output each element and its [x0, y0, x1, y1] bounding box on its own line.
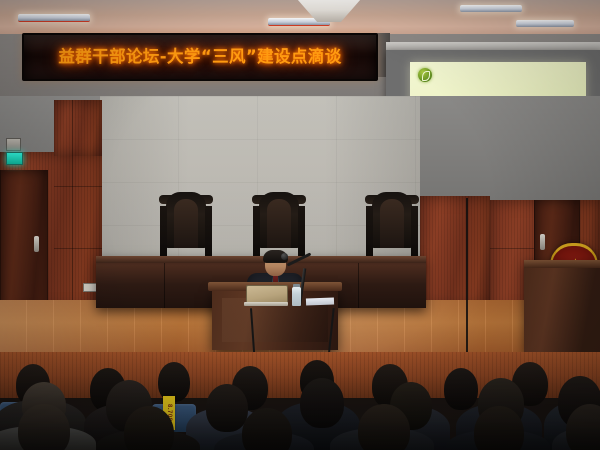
- panel-seam: [490, 248, 534, 249]
- chair-arm: [205, 206, 212, 258]
- glasses-icon: [266, 262, 285, 267]
- audience-head: [444, 368, 478, 410]
- chair-arm: [160, 206, 167, 258]
- right-desk-top: [524, 260, 600, 268]
- ceiling-light-strip: [516, 20, 574, 27]
- audience-head: [206, 384, 248, 432]
- right-gray-wall: [418, 96, 600, 200]
- right-side-desk: [524, 260, 600, 352]
- papers: [306, 298, 334, 306]
- chair-arm: [298, 206, 305, 258]
- table-seam: [358, 263, 359, 308]
- audience-head: [358, 404, 410, 450]
- hanging-cable: [466, 198, 468, 368]
- wall-socket: [83, 283, 97, 292]
- chair-back: [259, 192, 299, 248]
- panel-seam: [54, 186, 102, 187]
- university-green-leaf-logo-icon: [418, 68, 432, 82]
- panel-seam: [54, 248, 102, 249]
- chair-arm: [366, 206, 373, 258]
- ceiling-light-strip: [18, 14, 90, 22]
- microphone-head-icon: [281, 253, 288, 260]
- chair-arm: [411, 206, 418, 258]
- laptop-keyboard: [244, 302, 288, 306]
- door-handle-icon[interactable]: [540, 234, 545, 250]
- door-handle-icon[interactable]: [34, 236, 39, 252]
- ceiling-light-strip: [460, 5, 522, 12]
- audience-area: 8.708: [0, 352, 600, 450]
- chair-back: [372, 192, 412, 248]
- left-wood-panel-upper: [54, 100, 102, 156]
- left-exit-door[interactable]: [0, 170, 48, 312]
- exit-sign: [6, 152, 23, 165]
- led-banner-text: 益群干部论坛-大学“三风”建设点滴谈: [58, 49, 341, 66]
- stage-chair: [363, 192, 421, 264]
- led-banner-board: 益群干部论坛-大学“三风”建设点滴谈: [22, 33, 378, 81]
- wall-control-box[interactable]: [6, 138, 21, 151]
- panel-seam: [72, 100, 73, 310]
- audience-head: [18, 404, 70, 450]
- table-seam: [164, 263, 165, 308]
- audience-head: [300, 378, 344, 428]
- laptop: [244, 285, 288, 306]
- water-bottle: [292, 287, 301, 306]
- chair-back: [166, 192, 206, 248]
- chair-arm: [253, 206, 260, 258]
- stage-chair: [157, 192, 215, 264]
- right-upper-wood-panel: [420, 196, 490, 308]
- auditorium-scene: 益群干部论坛-大学“三风”建设点滴谈 大学“三风”建设点滴谈 主讲人 · 报告厅: [0, 0, 600, 450]
